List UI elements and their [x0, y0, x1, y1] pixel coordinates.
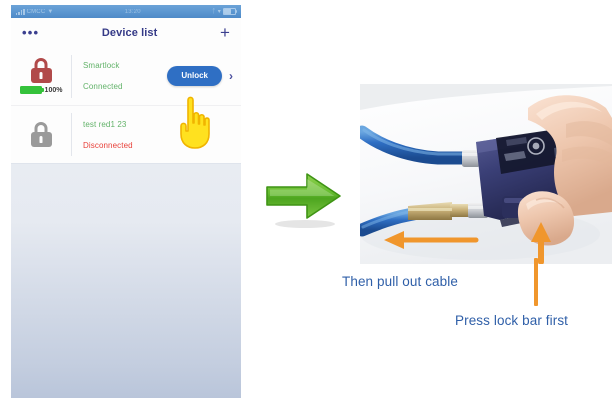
device-name-label: test red1 23	[83, 120, 155, 129]
battery-percent-label: 100%	[45, 87, 63, 94]
chevron-right-icon[interactable]: ›	[229, 70, 233, 82]
device-lock-status: 100%	[11, 58, 71, 94]
green-right-arrow-icon	[263, 168, 345, 230]
status-bar-right: ᛏ ▾	[212, 8, 236, 16]
status-bar: CMCC ▼ 13:20 ᛏ ▾	[11, 5, 241, 18]
bluetooth-icon: ᛏ	[212, 9, 216, 15]
device-lock-status	[11, 122, 71, 147]
battery-icon	[20, 86, 42, 94]
unlock-button[interactable]: Unlock	[167, 66, 222, 86]
padlock-locked-red-icon	[31, 58, 52, 83]
padlock-locked-grey-icon	[31, 122, 52, 147]
menu-icon[interactable]: •••	[22, 26, 39, 39]
signal-bars-icon	[16, 9, 25, 15]
wifi-icon: ▼	[47, 9, 53, 15]
device-actions: Unlock ›	[155, 66, 241, 86]
instruction-photo	[360, 84, 612, 264]
status-bar-time: 13:20	[125, 9, 141, 15]
status-badge: Connected	[83, 82, 155, 91]
carrier-label: CMCC	[27, 9, 46, 15]
page-title: Device list	[102, 27, 158, 39]
lock-photo-illustration	[360, 84, 612, 264]
wifi-icon: ▾	[218, 8, 221, 15]
battery-icon	[223, 8, 236, 16]
caption-press-lock-bar: Press lock bar first	[455, 313, 568, 328]
device-info: Smartlock Connected	[72, 61, 155, 91]
device-info: test red1 23 Disconnected	[72, 120, 155, 150]
hand-cursor-icon	[171, 93, 217, 151]
navigation-bar: ••• Device list +	[11, 18, 241, 47]
device-battery: 100%	[20, 86, 63, 94]
caption-pull-cable: Then pull out cable	[342, 274, 458, 289]
callout-leader-line	[534, 258, 538, 306]
phone-screen: CMCC ▼ 13:20 ᛏ ▾ ••• Device list + 100%	[11, 5, 241, 398]
add-device-button[interactable]: +	[220, 24, 230, 41]
status-bar-left: CMCC ▼	[16, 9, 54, 15]
device-name-label: Smartlock	[83, 61, 155, 70]
status-badge: Disconnected	[83, 141, 155, 150]
